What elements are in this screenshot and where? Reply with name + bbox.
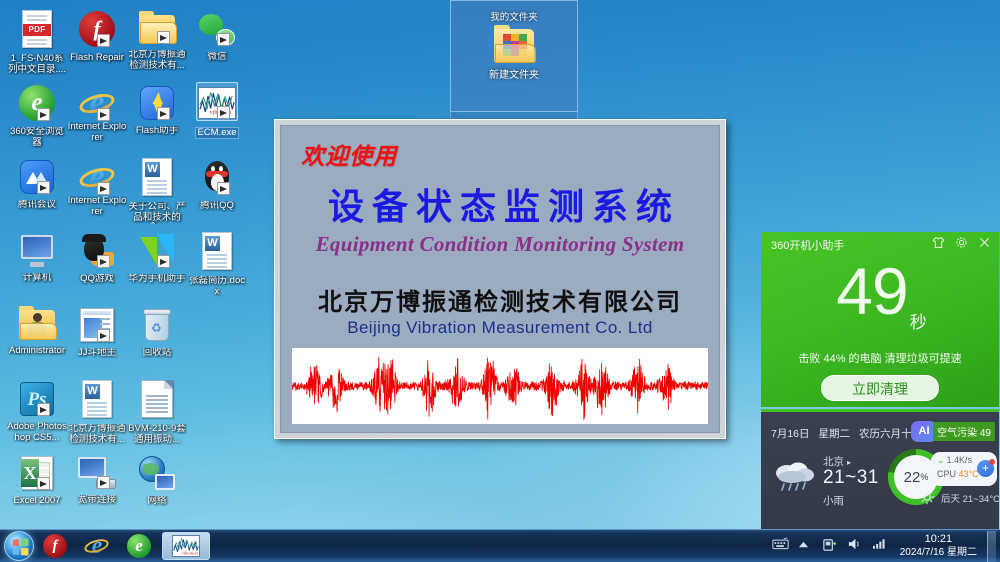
- desktop-icon-label: Internet Explorer: [67, 196, 127, 217]
- computer-icon: [19, 235, 55, 267]
- network-icon: [139, 456, 175, 490]
- app-title-chinese: 设备状态监测系统: [281, 178, 719, 230]
- desktop-icon-20[interactable]: PsAdobe Photoshop CS5...: [7, 378, 67, 443]
- icon-art: [80, 234, 114, 268]
- volume-icon[interactable]: [847, 537, 866, 555]
- recycle-bin-icon: ♻: [143, 308, 171, 342]
- icon-art: [140, 234, 174, 268]
- icon-art: [139, 456, 175, 490]
- shortcut-arrow-icon: [97, 182, 110, 195]
- desktop-icon-1[interactable]: PDF 1_FS-N40系列中文目录....: [7, 8, 67, 75]
- shortcut-arrow-icon: [97, 34, 110, 47]
- pdf-file-icon: PDF: [22, 10, 52, 48]
- taskbar-clock[interactable]: 10:21 2024/7/16 星期二: [894, 533, 985, 559]
- icon-art: PDF: [22, 10, 52, 48]
- desktop-icon-3[interactable]: 北京万博振通检测技术有...: [127, 8, 187, 71]
- desktop-icon-label: Administrator: [7, 346, 67, 357]
- system-stats-panel[interactable]: ⌄1.4K/s CPU 43°C +: [931, 452, 997, 486]
- 360-widget-header: 360开机小助手: [761, 232, 999, 256]
- quicklaunch-360-browser[interactable]: e: [118, 531, 160, 561]
- folder-panel-caption: 我的文件夹: [451, 9, 577, 23]
- weather-condition: 小雨: [823, 493, 844, 508]
- network-speed: ⌄1.4K/s: [937, 455, 972, 466]
- icon-art: Ps: [20, 382, 54, 416]
- temperature-range: 21~31: [823, 467, 879, 489]
- desktop-icon-17[interactable]: Administrator: [7, 304, 67, 357]
- cpu-temperature: CPU 43°C: [937, 469, 979, 479]
- desktop-icon-10[interactable]: eInternet Explorer: [67, 156, 127, 217]
- desktop-icon-19[interactable]: ♻回收站: [127, 304, 187, 359]
- icon-art: [78, 457, 116, 489]
- shortcut-arrow-icon: [157, 255, 170, 268]
- svg-text:vibration: vibration: [181, 550, 198, 555]
- icon-art: e: [78, 159, 116, 195]
- shortcut-arrow-icon: [97, 476, 110, 489]
- desktop-icon-label: BVM-210-9套通用振动...: [127, 424, 187, 445]
- icon-art: [141, 380, 173, 418]
- shortcut-arrow-icon: [37, 108, 50, 121]
- shortcut-arrow-icon: [97, 255, 110, 268]
- icon-art: e: [78, 85, 116, 121]
- date-value: 7月16日: [771, 428, 810, 440]
- icon-art: f: [79, 11, 115, 47]
- desktop-icon-13[interactable]: 计算机: [7, 230, 67, 284]
- clock-time: 10:21: [900, 533, 977, 546]
- boot-unit: 秒: [910, 313, 926, 332]
- shortcut-arrow-icon: [37, 181, 50, 194]
- desktop-icon-9[interactable]: 腾讯会议: [7, 156, 67, 211]
- company-name-english: Beijing Vibration Measurement Co. Ltd: [281, 318, 719, 338]
- waveform-svg: [292, 348, 708, 424]
- shortcut-arrow-icon: [217, 106, 230, 119]
- desktop-icon-label: JJ斗地主: [67, 348, 127, 359]
- icon-art: W: [142, 158, 172, 196]
- rain-cloud-icon: [771, 457, 819, 493]
- gear-icon[interactable]: [955, 236, 968, 254]
- desktop-icon-6[interactable]: eInternet Explorer: [67, 82, 127, 143]
- icon-art: W: [82, 380, 112, 418]
- forecast-text: 后天 21~34°C: [941, 491, 999, 505]
- 360-widget-title: 360开机小助手: [771, 237, 844, 253]
- shortcut-arrow-icon: [37, 477, 50, 490]
- 360-boot-assistant-widget[interactable]: 360开机小助手 49秒 击败 44% 的电脑 清理垃圾可提速 立即清理: [761, 232, 999, 407]
- date-line: 7月16日星期二农历六月十一: [771, 426, 931, 441]
- system-tray: 10:21 2024/7/16 星期二: [769, 530, 1000, 562]
- company-name-chinese: 北京万博振通检测技术有限公司: [281, 282, 719, 317]
- desktop-icon-label: 微信: [187, 52, 247, 63]
- icon-art: ♻: [143, 308, 171, 342]
- multicolor-folder-icon: [494, 29, 534, 63]
- weather-system-widget[interactable]: 7月16日星期二农历六月十一 AI 空气污染 49 北京▸ 21~31 小雨 2…: [761, 409, 999, 529]
- shirt-icon[interactable]: [932, 236, 945, 254]
- desktop-icon-label: 宽带连接: [67, 495, 127, 506]
- desktop-icon-12[interactable]: 腾讯QQ: [187, 156, 247, 212]
- ecm-splash-window[interactable]: 欢迎使用 设备状态监测系统 Equipment Condition Monito…: [274, 119, 726, 439]
- boot-seconds: 49: [836, 254, 907, 328]
- folder-drag-panel[interactable]: 我的文件夹 新建文件夹: [450, 0, 578, 112]
- taskbar-task-ecm[interactable]: vibration: [162, 532, 210, 560]
- icon-art: [19, 235, 55, 267]
- desktop-icon-label: 腾讯QQ: [187, 201, 247, 212]
- welcome-text: 欢迎使用: [301, 137, 397, 171]
- desktop-icon-label: 网络: [127, 496, 187, 507]
- sun-icon: [919, 489, 935, 505]
- desktop-icon-5[interactable]: e360安全浏览器: [7, 82, 67, 148]
- app-title-english: Equipment Condition Monitoring System: [281, 232, 719, 257]
- show-desktop-button[interactable]: [987, 531, 996, 562]
- folder-panel-name: 新建文件夹: [451, 66, 577, 81]
- air-quality-badge[interactable]: 空气污染 49: [933, 422, 995, 441]
- quicklaunch-flash-repair[interactable]: f: [34, 531, 76, 561]
- network-signal-icon[interactable]: [872, 537, 891, 555]
- icon-art: vibration: [198, 87, 236, 119]
- desktop-icon-label: QQ游戏: [67, 274, 127, 285]
- shortcut-arrow-icon: [97, 108, 110, 121]
- 360-widget-buttons: [932, 236, 991, 254]
- keyboard-input-icon[interactable]: [772, 537, 791, 555]
- clock-date: 2024/7/16 星期二: [900, 546, 977, 559]
- shortcut-arrow-icon: [217, 33, 230, 46]
- word-document-icon: W: [82, 380, 112, 418]
- safely-remove-hardware-icon[interactable]: [822, 537, 841, 555]
- desktop-icon-8[interactable]: vibration ECM.exe: [187, 82, 247, 144]
- icon-art: e: [19, 85, 55, 121]
- desktop-icon-18[interactable]: JJ斗地主: [67, 304, 127, 359]
- desktop-icon-24[interactable]: 宽带连接: [67, 452, 127, 506]
- desktop-icon-label: Adobe Photoshop CS5...: [7, 422, 67, 443]
- desktop-icon-11[interactable]: W 关于公司、产品和技术的介...: [127, 156, 187, 224]
- icon-art: [199, 12, 235, 46]
- word-document-icon: W: [202, 232, 232, 270]
- icon-art: [139, 15, 175, 44]
- shortcut-arrow-icon: [157, 107, 170, 120]
- splash-content: 欢迎使用 设备状态监测系统 Equipment Condition Monito…: [280, 125, 720, 433]
- taskbar[interactable]: f e e vibration: [0, 529, 1000, 562]
- boot-time-value: 49秒: [761, 258, 999, 342]
- desktop-icon-22[interactable]: BVM-210-9套通用振动...: [127, 378, 187, 445]
- word-document-icon: W: [142, 158, 172, 196]
- desktop-icon-label: Flash Repair: [67, 53, 127, 64]
- shortcut-arrow-icon: [157, 31, 170, 44]
- icon-art: [140, 86, 174, 120]
- desktop-icon-label: Internet Explorer: [67, 122, 127, 143]
- desktop-icon-14[interactable]: QQ游戏: [67, 230, 127, 285]
- desktop-icon-15[interactable]: 华为手机助手: [127, 230, 187, 285]
- chevron-right-icon: ▸: [847, 458, 851, 467]
- icon-art: [202, 159, 232, 195]
- desktop-icon-label: 北京万博振通检测技术有...: [67, 424, 127, 445]
- desktop-icon-21[interactable]: W 北京万博振通检测技术有...: [67, 378, 127, 445]
- document-file-icon: [141, 380, 173, 418]
- desktop-icon-label: 回收站: [127, 348, 187, 359]
- desktop-icon-23[interactable]: XExcel 2007: [7, 452, 67, 507]
- desktop-icon-label: Excel 2007: [7, 496, 67, 507]
- widget-divider: [761, 409, 999, 412]
- icon-art: [19, 310, 55, 340]
- quicklaunch-internet-explorer[interactable]: e: [76, 531, 118, 561]
- desktop-icon-label: 关于公司、产品和技术的介...: [127, 202, 187, 224]
- desktop-icon-4[interactable]: 微信: [187, 8, 247, 63]
- desktop-icon-2[interactable]: fFlash Repair: [67, 8, 127, 64]
- desktop-icon-label: 张磊简历.docx: [187, 276, 247, 297]
- clean-now-button[interactable]: 立即清理: [821, 375, 939, 401]
- add-widget-button[interactable]: +: [977, 460, 994, 477]
- close-icon[interactable]: [978, 236, 991, 254]
- desktop-icon-label: 1_FS-N40系列中文目录....: [7, 54, 67, 75]
- desktop-icon-label: Flash助手: [127, 126, 187, 137]
- desktop-icon-16[interactable]: W 张磊简历.docx: [187, 230, 247, 297]
- shortcut-arrow-icon: [97, 329, 110, 342]
- desktop-icon-label: ECM.exe: [195, 127, 238, 140]
- notification-dot: [989, 459, 995, 465]
- icon-art: [80, 308, 114, 342]
- desktop-icon-7[interactable]: Flash助手: [127, 82, 187, 137]
- desktop-icon-label: 北京万博振通检测技术有...: [127, 50, 187, 71]
- start-button[interactable]: [4, 531, 34, 561]
- boot-comparison-text: 击败 44% 的电脑 清理垃圾可提速: [761, 350, 999, 366]
- icon-art: W: [202, 232, 232, 270]
- desktop-icon-label: 腾讯会议: [7, 200, 67, 211]
- weekday-value: 星期二: [819, 428, 851, 440]
- shortcut-arrow-icon: [37, 403, 50, 416]
- desktop-background[interactable]: PDF 1_FS-N40系列中文目录....fFlash Repair北京万博振…: [0, 0, 1000, 562]
- desktop-icon-label: 360安全浏览器: [7, 127, 67, 148]
- desktop-icon-label: 计算机: [7, 273, 67, 284]
- down-arrow-icon: ⌄: [937, 455, 945, 465]
- shortcut-arrow-icon: [217, 182, 230, 195]
- icon-art: X: [21, 456, 53, 490]
- windows-logo-icon: [13, 538, 29, 556]
- icon-art: [20, 160, 54, 194]
- vibration-waveform-graphic: [292, 348, 708, 424]
- desktop-icon-25[interactable]: 网络: [127, 452, 187, 507]
- desktop-icon-label: 华为手机助手: [127, 274, 187, 285]
- user-folder-icon: [19, 310, 55, 340]
- show-hidden-icons-icon[interactable]: [797, 537, 816, 555]
